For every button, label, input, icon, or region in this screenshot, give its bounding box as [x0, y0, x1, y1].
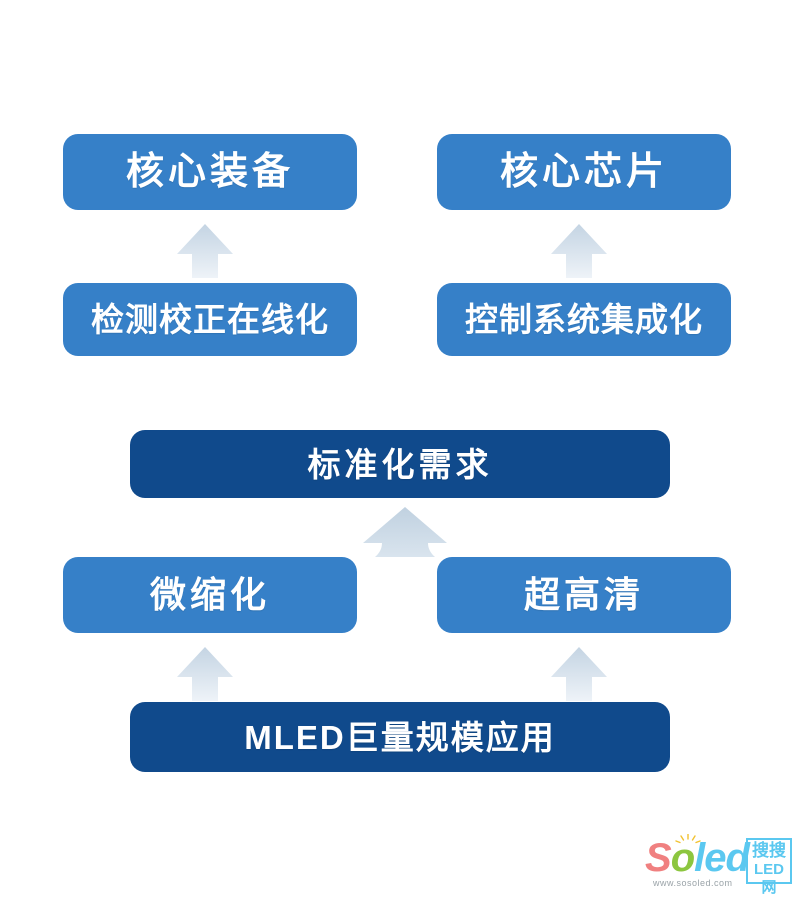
- arrow-up-icon-ultrahd-to-standardization: [549, 645, 609, 701]
- watermark-brand-s: S: [645, 836, 671, 880]
- node-ultra-hd[interactable]: 超高清: [437, 557, 731, 633]
- watermark-url: www.sosoled.com: [653, 878, 733, 888]
- watermark-badge-bottom: LED网: [748, 861, 790, 897]
- node-miniaturization[interactable]: 微缩化: [63, 557, 357, 633]
- node-mled-mass-application-label: MLED巨量规模应用: [244, 721, 556, 754]
- node-core-chip[interactable]: 核心芯片: [437, 134, 731, 210]
- node-inspection-online-label: 检测校正在线化: [91, 303, 329, 336]
- node-inspection-online[interactable]: 检测校正在线化: [63, 283, 357, 356]
- node-standardization-demand[interactable]: 标准化需求: [130, 430, 670, 498]
- watermark-logo: Soled www.sosoled.com 搜搜 LED网: [645, 836, 793, 894]
- node-core-equipment-label: 核心装备: [126, 153, 294, 191]
- node-core-equipment[interactable]: 核心装备: [63, 134, 357, 210]
- node-core-chip-label: 核心芯片: [500, 153, 668, 191]
- watermark-brand-led: led: [694, 836, 749, 880]
- watermark-badge: 搜搜 LED网: [746, 838, 792, 884]
- arrow-up-icon-inspection-to-core-equipment: [175, 222, 235, 278]
- lightbulb-rays-icon: [675, 834, 701, 848]
- node-control-integration-label: 控制系统集成化: [465, 303, 703, 336]
- arrow-up-icon-miniaturization-to-standardization: [175, 645, 235, 701]
- diagram-canvas: 核心装备 核心芯片 检测校正在线: [0, 0, 800, 902]
- node-miniaturization-label: 微缩化: [150, 577, 270, 613]
- watermark-badge-top: 搜搜: [748, 841, 790, 861]
- node-ultra-hd-label: 超高清: [524, 577, 644, 613]
- arrow-up-icon-control-to-core-chip: [549, 222, 609, 278]
- node-standardization-demand-label: 标准化需求: [308, 448, 493, 481]
- node-mled-mass-application[interactable]: MLED巨量规模应用: [130, 702, 670, 772]
- node-control-integration[interactable]: 控制系统集成化: [437, 283, 731, 356]
- arrow-up-icon-standardization-to-capabilities: [355, 505, 455, 557]
